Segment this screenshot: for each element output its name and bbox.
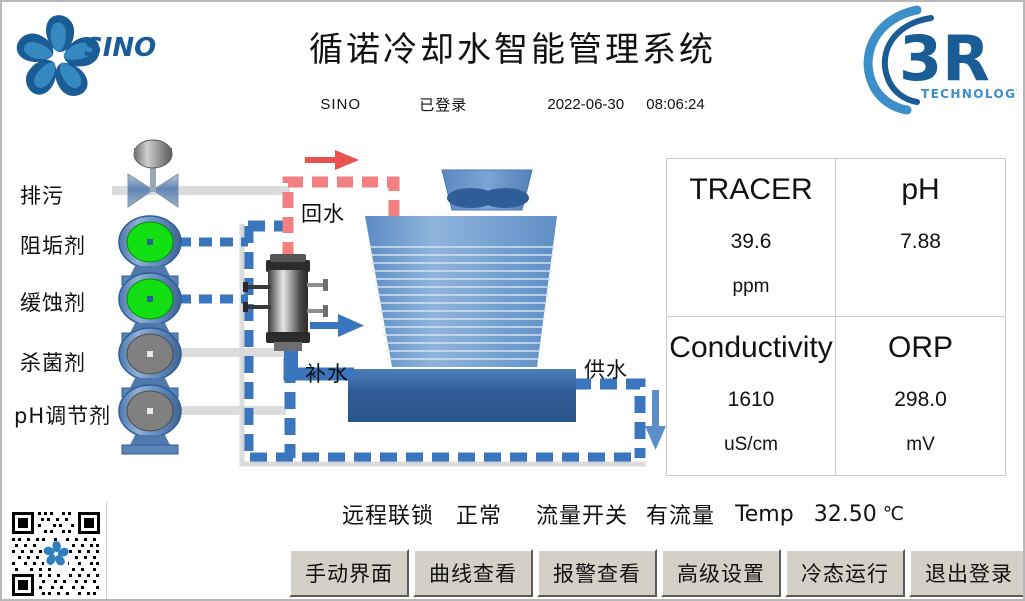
measurement-panel: TRACER 39.6 ppm pH 7.88 Conductivity 161… [666,158,1006,476]
heat-exchanger-icon [243,254,328,351]
temperature-unit: ℃ [883,503,904,525]
measurement-unit: mV [906,434,935,456]
chem-label-biocide: 杀菌剂 [20,347,160,377]
temperature-value: 32.50 [814,502,877,527]
measurement-unit: ppm [733,276,770,298]
qr-divider [106,502,107,601]
button-advanced-settings[interactable]: 高级设置 [661,549,781,597]
login-status-text: 已登录 [419,94,467,115]
flow-switch-value: 有流量 [646,498,715,530]
chem-label-corrosion-inhibitor: 缓蚀剂 [20,287,160,317]
measurement-name: Conductivity [669,331,832,366]
makeup-flow-arrow [310,314,364,337]
measurement-value: 1610 [728,388,775,412]
measurement-card-orp[interactable]: ORP 298.0 mV [836,317,1005,475]
chem-label-antiscalant: 阻垢剂 [20,230,160,260]
button-manual-screen[interactable]: 手动界面 [289,549,409,597]
button-cold-start-mode[interactable]: 冷态运行 [785,549,905,597]
header-status-line: SINO 已登录 2022-06-30 08:06:24 [2,94,1023,115]
button-logout[interactable]: 退出登录 [909,549,1025,597]
measurement-card-conductivity[interactable]: Conductivity 1610 uS/cm [667,317,836,475]
button-alarm-view[interactable]: 报警查看 [537,549,657,597]
button-trend-view[interactable]: 曲线查看 [413,549,533,597]
qr-code[interactable] [8,508,104,600]
measurement-name: ORP [888,331,953,366]
remote-interlock-label: 远程联锁 [342,498,434,530]
measurement-card-ph[interactable]: pH 7.88 [836,159,1005,317]
remote-interlock-value: 正常 [456,498,502,530]
temperature-label: Temp [735,502,794,527]
measurement-value: 298.0 [894,388,947,412]
measurement-value: 39.6 [731,230,772,254]
current-time: 08:06:24 [646,96,704,113]
measurement-name: TRACER [689,173,812,208]
measurement-card-tracer[interactable]: TRACER 39.6 ppm [667,159,836,317]
return-flow-arrow [305,150,359,170]
page-title: 循诺冷却水智能管理系统 [2,22,1023,71]
supply-flow-arrow [645,390,666,450]
chem-label-ph-adjuster: pH调节剂 [14,400,154,430]
label-makeup-water: 补水 [305,358,349,388]
current-user: SINO [320,96,361,113]
chem-label-blowdown: 排污 [20,180,160,210]
measurement-unit: uS/cm [724,434,778,456]
system-status-row: 远程联锁 正常 流量开关 有流量 Temp 32.50 ℃ [342,497,1017,531]
hmi-screen: SINO 3R TECHNOLOGY 循诺冷却水智能管理系统 SINO 已登录 … [0,0,1025,601]
label-return-water: 回水 [301,198,345,228]
current-date: 2022-06-30 [547,96,624,113]
flow-switch-label: 流量开关 [536,498,628,530]
navigation-button-bar: 手动界面 曲线查看 报警查看 高级设置 冷态运行 退出登录 [289,549,1025,597]
measurement-name: pH [901,173,939,208]
label-supply-water: 供水 [584,354,628,384]
measurement-value: 7.88 [900,230,941,254]
